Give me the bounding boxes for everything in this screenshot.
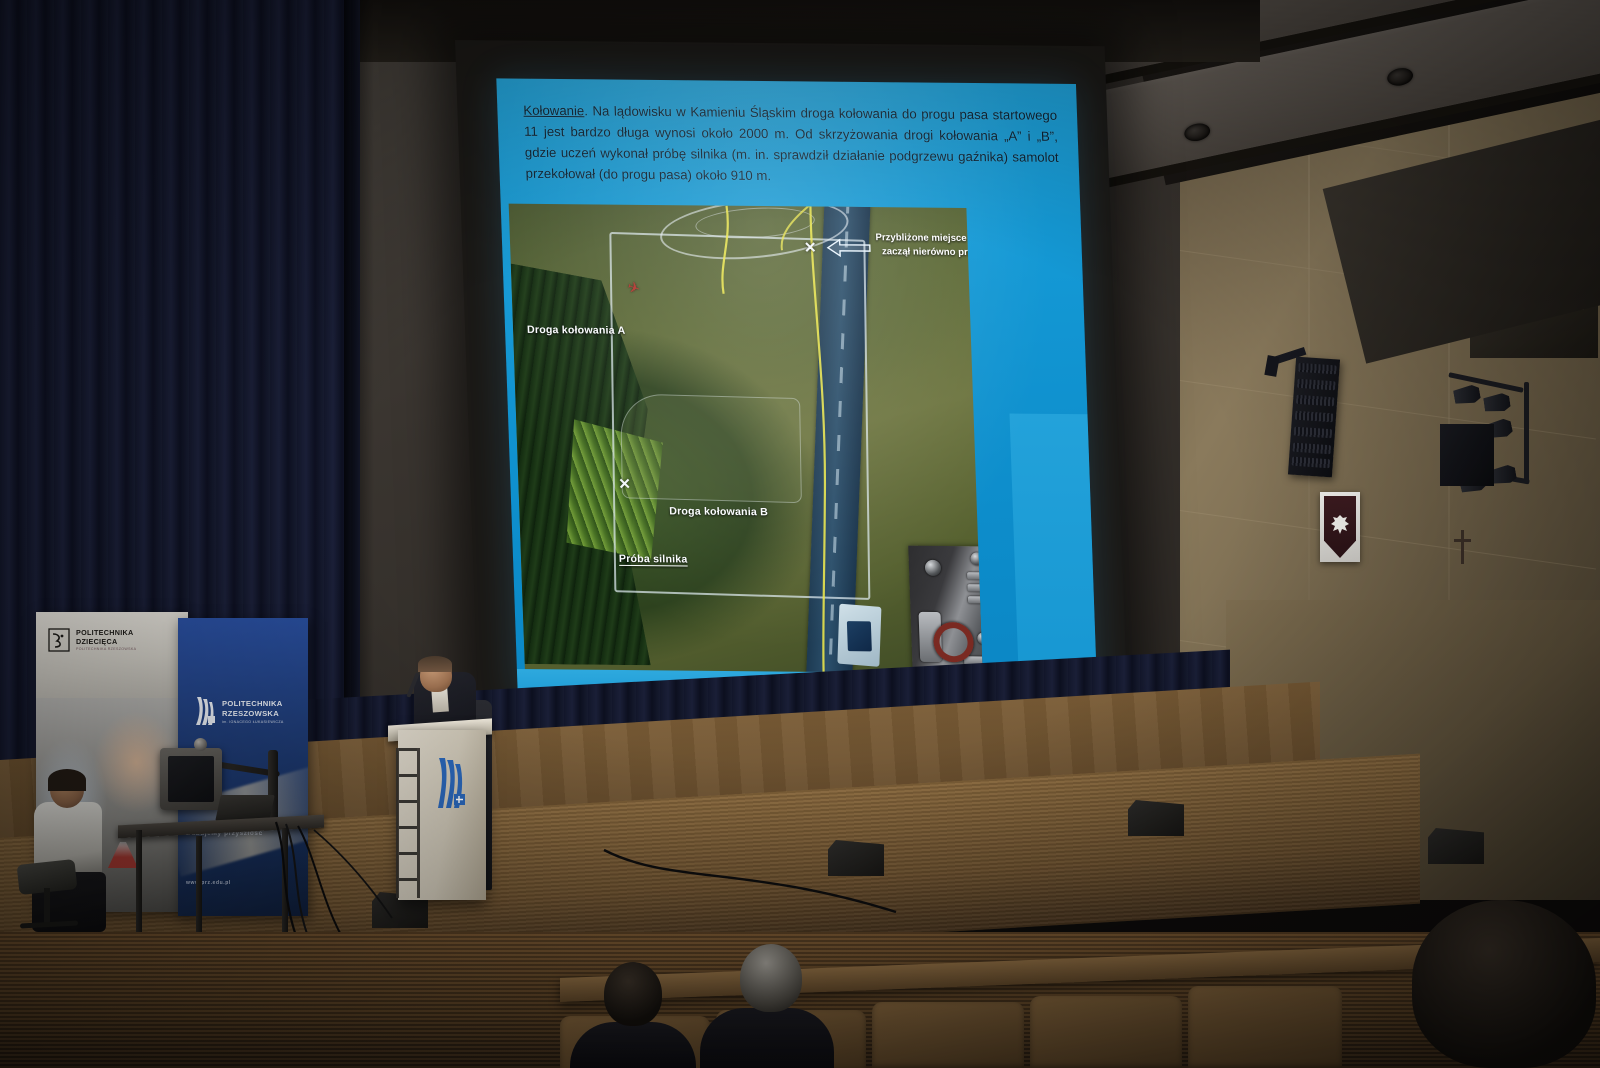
label-engine-run: Próba silnika: [619, 553, 688, 566]
technician-hair: [48, 769, 86, 791]
banner-white-subtitle: POLITECHNIKA RZESZOWSKA: [76, 648, 136, 652]
polish-eagle-emblem: [1320, 492, 1360, 562]
prz-logo-glyph: [434, 756, 468, 812]
audience-shoulders: [570, 1022, 696, 1068]
wedge-monitor-3: [1128, 800, 1184, 836]
audience-head-left: [604, 962, 662, 1026]
label-taxiway-a: Droga kołowania A: [527, 324, 626, 337]
aerial-photo-airfield: ✈ ✕ ✕ Przybliżone miejsce gdzie silnik z…: [509, 204, 983, 679]
auditorium-seat[interactable]: [1188, 986, 1342, 1068]
politechnika-dziecieca-logo-icon: [48, 628, 70, 652]
wedge-monitor-4: [1428, 828, 1484, 864]
projection-screen: Kołowanie. Na lądowisku w Kamieniu Śląsk…: [455, 40, 1129, 737]
banner-blue-subtitle: im. IGNACEGO ŁUKASIEWICZA: [222, 721, 284, 725]
banner-white-title-2: DZIECIĘCA: [76, 638, 117, 646]
auditorium-scene: Kołowanie. Na lądowisku w Kamieniu Śląsk…: [0, 0, 1600, 1068]
slide-body: . Na lądowisku w Kamieniu Śląskim droga …: [524, 103, 1059, 182]
slide-text-block: Kołowanie. Na lądowisku w Kamieniu Śląsk…: [523, 101, 1060, 190]
presenter-hair: [418, 656, 452, 672]
banner-blue-title-1: POLITECHNIKA: [222, 700, 283, 708]
banner-blue-title-2: RZESZOWSKA: [222, 710, 279, 718]
audience-shoulders: [700, 1008, 834, 1068]
chair-base: [20, 920, 78, 928]
callout-text: Przybliżone miejsce gdzie silnik zaczął …: [875, 231, 983, 260]
auditorium-seat[interactable]: [1030, 996, 1182, 1068]
x-mark-engine-run: ✕: [618, 477, 631, 492]
presentation-slide: Kołowanie. Na lądowisku w Kamieniu Śląsk…: [496, 78, 1097, 704]
slide-heading: Kołowanie: [523, 103, 584, 119]
banner-white-title-1: POLITECHNIKA: [76, 629, 134, 637]
webcam-icon: [194, 738, 207, 751]
wall-crucifix: [1452, 530, 1474, 564]
apron-area: [620, 393, 802, 503]
parked-aircraft: [837, 604, 881, 667]
audience-head-center: [740, 944, 802, 1012]
auditorium-seat[interactable]: [872, 1002, 1024, 1068]
line-array-loudspeaker: [1288, 357, 1340, 478]
podium-logo-icon: [434, 756, 468, 812]
label-taxiway-b: Droga kołowania B: [669, 505, 768, 518]
cable-bundle: [270, 818, 400, 948]
eagle-icon: [1324, 496, 1356, 558]
slide-right-fill: [1010, 414, 1097, 675]
callout-arrow-icon: [826, 237, 873, 259]
light-panel: [1440, 424, 1494, 486]
audience-head-right-foreground: [1412, 900, 1596, 1068]
av-monitor[interactable]: [160, 748, 222, 810]
stage-floor-cable: [600, 840, 900, 930]
cockpit-inset-photo: [908, 546, 983, 679]
stage-light-truss: [1440, 380, 1550, 530]
chair-post: [44, 888, 50, 926]
eagle-glyph: [1328, 512, 1352, 542]
politechnika-rzeszowska-logo-icon: [194, 696, 216, 726]
x-mark-engine-fault: ✕: [804, 240, 817, 255]
